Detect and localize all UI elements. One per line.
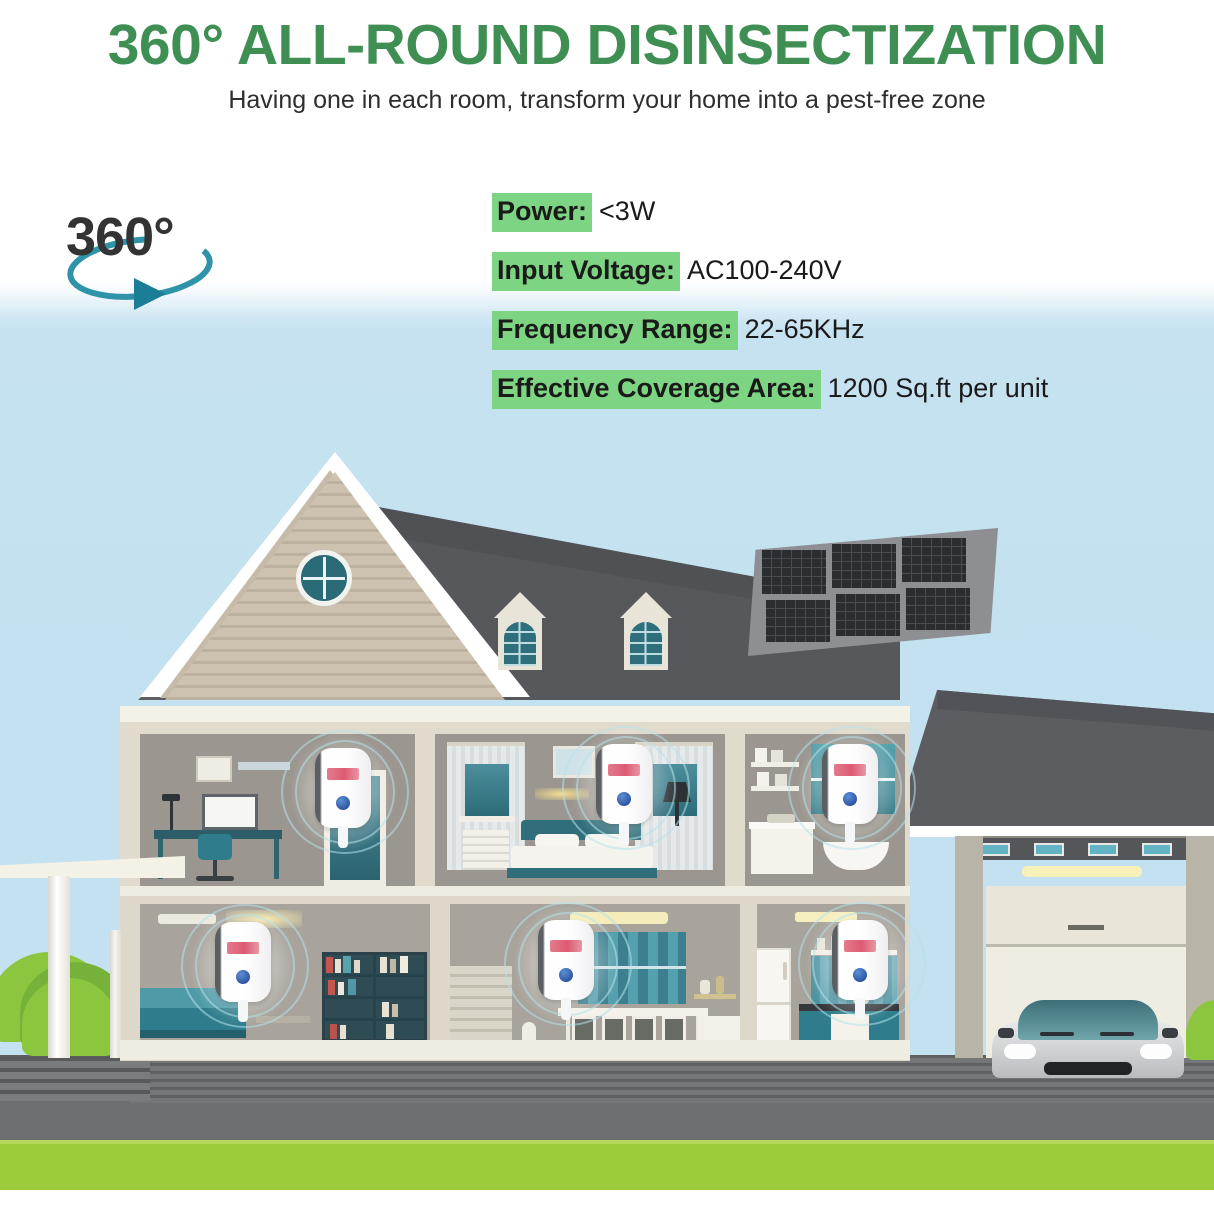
garage-clerestory-window: [1088, 843, 1118, 856]
wall-frame: [196, 756, 232, 782]
car: [992, 1000, 1184, 1078]
repeller-logo: [844, 940, 876, 952]
dormer-roof: [620, 592, 672, 618]
house-cutaway-illustration: [0, 0, 1214, 1207]
dormer-window: [494, 592, 546, 670]
repeller-body: [215, 922, 271, 1002]
refrigerator-divider: [757, 1002, 791, 1005]
book: [386, 1024, 394, 1039]
car-mirror: [1162, 1028, 1178, 1038]
upper-floor-eave: [120, 706, 910, 722]
book: [328, 980, 335, 995]
towel: [757, 772, 769, 786]
book: [338, 982, 344, 995]
car-windshield: [1018, 1000, 1158, 1040]
solar-panel: [832, 544, 896, 588]
dormer-glass: [630, 622, 662, 666]
window-sill: [459, 816, 515, 822]
round-attic-window: [296, 550, 352, 606]
rotate-360-badge: 360°: [62, 196, 252, 316]
vanity: [751, 826, 813, 874]
sofa-base: [140, 1030, 246, 1038]
page-subtitle: Having one in each room, transform your …: [0, 86, 1214, 115]
spec-label-input-voltage: Input Voltage:: [492, 252, 680, 291]
bookshelf-ledge: [322, 974, 427, 977]
monitor: [202, 794, 258, 830]
repeller-body: [315, 748, 371, 828]
repeller-logo: [227, 942, 259, 954]
wall-shelf: [238, 762, 290, 770]
office-chair-base: [196, 876, 234, 881]
repeller-indicator-icon: [853, 968, 867, 982]
book: [380, 957, 387, 973]
ultrasonic-pest-repeller: [822, 744, 878, 832]
spec-list: Power:<3W Input Voltage:AC100-240V Frequ…: [492, 193, 1204, 429]
spec-row-power: Power:<3W: [492, 193, 1204, 232]
garage-door: [986, 886, 1186, 947]
book: [392, 1004, 398, 1017]
repeller-logo: [327, 768, 359, 780]
header-band: 360° ALL-ROUND DISINSECTIZATION Having o…: [0, 0, 1214, 145]
spec-row-input-voltage: Input Voltage:AC100-240V: [492, 252, 1204, 291]
bed-base: [507, 868, 657, 878]
porch-column: [110, 930, 121, 1058]
ultrasonic-pest-repeller: [315, 748, 371, 836]
dormer-glass: [504, 622, 536, 666]
car-wiper: [1100, 1032, 1134, 1036]
spec-row-coverage-area: Effective Coverage Area:1200 Sq.ft per u…: [492, 370, 1204, 409]
car-mirror: [998, 1028, 1014, 1038]
towel: [775, 774, 787, 786]
repeller-indicator-icon: [559, 968, 573, 982]
refrigerator-handle: [783, 962, 787, 980]
office-chair-back: [198, 834, 232, 860]
staircase: [450, 966, 512, 1046]
porch-column: [48, 876, 70, 1058]
solar-panel: [762, 550, 826, 594]
spec-value-frequency-range: 22-65KHz: [738, 316, 865, 343]
solar-panel: [906, 588, 970, 630]
spec-label-frequency-range: Frequency Range:: [492, 311, 738, 350]
vase: [700, 980, 710, 994]
bookshelf-ledge: [322, 996, 427, 999]
book: [400, 956, 408, 973]
garage-clerestory-window: [1034, 843, 1064, 856]
book: [335, 959, 341, 973]
towel: [771, 750, 783, 762]
garage-ceiling-light: [1022, 866, 1142, 877]
page-title: 360° ALL-ROUND DISINSECTIZATION: [0, 12, 1214, 78]
dormer-roof: [494, 592, 546, 618]
solar-panel: [836, 594, 900, 636]
porch-roof: [0, 856, 185, 878]
car-grille: [1044, 1062, 1132, 1075]
repeller-plug: [855, 998, 865, 1020]
dormer-window: [620, 592, 672, 670]
repeller-indicator-icon: [617, 792, 631, 806]
repeller-logo: [834, 764, 866, 776]
solar-panel: [766, 600, 830, 642]
lower-siding-skirt: [120, 1040, 910, 1060]
book: [382, 1002, 389, 1017]
book: [348, 979, 356, 995]
book: [390, 959, 396, 973]
repeller-indicator-icon: [336, 796, 350, 810]
repeller-plug: [619, 822, 629, 844]
spec-row-frequency-range: Frequency Range:22-65KHz: [492, 311, 1204, 350]
book: [343, 956, 351, 973]
spec-value-power: <3W: [592, 198, 655, 225]
garage-clerestory-window: [1142, 843, 1172, 856]
car-wiper: [1040, 1032, 1074, 1036]
car-headlight: [1004, 1044, 1036, 1059]
repeller-body: [596, 744, 652, 824]
spec-label-coverage-area: Effective Coverage Area:: [492, 370, 821, 409]
ultrasonic-pest-repeller: [596, 744, 652, 832]
spec-label-power: Power:: [492, 193, 592, 232]
car-headlight: [1140, 1044, 1172, 1059]
vase: [716, 976, 724, 994]
book: [354, 960, 360, 973]
book: [326, 957, 333, 973]
desk-leg: [274, 839, 279, 879]
garage-door-handle: [1068, 925, 1104, 930]
spec-value-coverage-area: 1200 Sq.ft per unit: [821, 375, 1049, 402]
repeller-plug: [338, 826, 348, 848]
repeller-body: [822, 744, 878, 824]
garage-clerestory-window: [980, 843, 1010, 856]
garage-wall-left: [955, 836, 983, 1058]
repeller-indicator-icon: [843, 792, 857, 806]
repeller-body: [538, 920, 594, 1000]
repeller-logo: [550, 940, 582, 952]
ultrasonic-pest-repeller: [832, 920, 888, 1008]
repeller-logo: [608, 764, 640, 776]
repeller-plug: [845, 822, 855, 844]
book: [330, 1024, 337, 1039]
solar-panel-array: [748, 528, 998, 656]
repeller-indicator-icon: [236, 970, 250, 984]
towel: [755, 748, 767, 762]
rotate-360-label: 360°: [66, 206, 174, 268]
repeller-plug: [561, 998, 571, 1020]
product-marketing-image: 360° ALL-ROUND DISINSECTIZATION Having o…: [0, 0, 1214, 1207]
wall-shelf: [694, 994, 736, 999]
toiletries: [767, 814, 795, 823]
spec-value-input-voltage: AC100-240V: [680, 257, 842, 284]
repeller-plug: [238, 1000, 248, 1022]
ultrasonic-pest-repeller: [215, 922, 271, 1010]
window-glass: [465, 764, 509, 816]
repeller-body: [832, 920, 888, 1000]
radiator: [463, 830, 509, 870]
bookshelf-ledge: [322, 1018, 427, 1021]
ultrasonic-pest-repeller: [538, 920, 594, 1008]
solar-panel: [902, 538, 966, 582]
desk-lamp-arm: [170, 800, 173, 830]
book: [340, 1025, 346, 1039]
